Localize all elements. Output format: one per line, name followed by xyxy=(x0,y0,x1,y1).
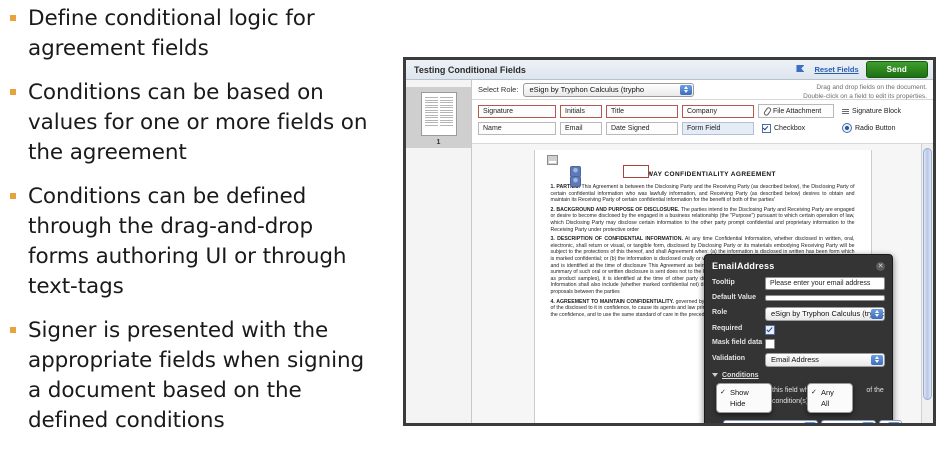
palette-field-email[interactable]: Email xyxy=(560,122,602,135)
initials-field-marker[interactable] xyxy=(570,176,581,187)
page-thumbnail-item[interactable]: 1 xyxy=(406,87,471,148)
app-screenshot-frame: Testing Conditional Fields Reset Fields … xyxy=(403,57,936,426)
page-thumbnail-image xyxy=(421,92,457,136)
field-properties-dialog: EmailAddress ✕ Tooltip Please enter your… xyxy=(704,254,893,426)
signature-block-icon xyxy=(842,107,849,115)
document-scrollbar[interactable] xyxy=(921,144,933,426)
mask-field-data-row: Mask field data xyxy=(712,339,885,349)
slide-bullet-list: Define conditional logic for agreement f… xyxy=(0,0,400,473)
page-thumbnail-number: 1 xyxy=(406,139,471,146)
radio-button-icon xyxy=(842,123,852,133)
palette-field-file-attachment[interactable]: File Attachment xyxy=(758,104,834,118)
chevron-updown-icon xyxy=(680,85,692,95)
conditions-disclosure[interactable]: Conditions xyxy=(712,372,885,379)
palette-field-radio-button[interactable]: Radio Button xyxy=(838,121,914,135)
validation-row: Validation Email Address xyxy=(712,353,885,367)
bullet-marker-icon xyxy=(10,327,16,333)
condition-operator-value: is xyxy=(827,422,832,426)
dialog-role-select[interactable]: eSign by Tryphon Calculus (trypho xyxy=(765,307,885,321)
app-title: Testing Conditional Fields xyxy=(414,65,526,75)
palette-file-attachment-label: File Attachment xyxy=(773,108,821,115)
dialog-role-label: Role xyxy=(712,309,765,318)
role-select-value: eSign by Tryphon Calculus (trypho xyxy=(529,85,644,94)
default-value-row: Default Value xyxy=(712,294,885,303)
condition-operator-select[interactable]: is xyxy=(821,420,876,427)
palette-field-checkbox[interactable]: Checkbox xyxy=(758,122,834,135)
required-label: Required xyxy=(712,325,765,334)
condition-field-value: ReceiveCommunic xyxy=(729,422,792,426)
bullet-text: Define conditional logic for agreement f… xyxy=(28,4,373,64)
palette-field-company[interactable]: Company xyxy=(682,105,754,118)
titlebar-actions: Reset Fields Send xyxy=(796,61,928,78)
document-heading: ONE-WAY CONFIDENTIALITY AGREEMENT xyxy=(551,171,855,178)
palette-radio-button-label: Radio Button xyxy=(855,125,895,132)
palette-field-form-field[interactable]: Form Field xyxy=(682,122,754,135)
bullet-marker-icon xyxy=(10,193,16,199)
reset-fields-link[interactable]: Reset Fields xyxy=(814,65,858,74)
bullet-text: Signer is presented with the appropriate… xyxy=(28,316,373,436)
bullet-item: Conditions can be based on values for on… xyxy=(0,78,400,168)
conditions-label: Conditions xyxy=(722,372,759,379)
app-titlebar: Testing Conditional Fields Reset Fields … xyxy=(406,60,933,80)
remove-condition-icon[interactable]: ✕ xyxy=(712,423,720,427)
chevron-updown-icon xyxy=(862,422,874,427)
dialog-role-value: eSign by Tryphon Calculus (trypho xyxy=(771,309,885,318)
scrollbar-thumb[interactable] xyxy=(923,148,932,400)
palette-checkbox-label: Checkbox xyxy=(774,125,805,132)
validation-label: Validation xyxy=(712,355,765,364)
bullet-text: Conditions can be defined through the dr… xyxy=(28,182,373,302)
email-field-marker[interactable] xyxy=(623,165,649,178)
document-canvas[interactable]: ONE-WAY CONFIDENTIALITY AGREEMENT 1. PAR… xyxy=(472,144,933,426)
conditions-block: this field when of the condition(s) are … xyxy=(712,383,885,417)
app-body: 1 Select Role: eSign by Tryphon Calculus… xyxy=(406,80,933,426)
bullet-marker-icon xyxy=(10,15,16,21)
mask-field-data-label: Mask field data xyxy=(712,339,765,348)
work-pane: Select Role: eSign by Tryphon Calculus (… xyxy=(472,80,933,426)
close-icon[interactable]: ✕ xyxy=(876,262,885,271)
palette-row-1: Signature Initials Title Company File At… xyxy=(478,104,927,118)
role-select[interactable]: eSign by Tryphon Calculus (trypho xyxy=(523,83,694,97)
validation-value: Email Address xyxy=(771,355,819,364)
bullet-text: Conditions can be based on values for on… xyxy=(28,78,373,168)
condition-field-select[interactable]: ReceiveCommunic xyxy=(723,420,818,427)
checked-checkbox-icon xyxy=(762,124,771,133)
palette-field-signature[interactable]: Signature xyxy=(478,105,556,118)
condition-value-select[interactable]: Checked xyxy=(879,420,902,427)
tooltip-input[interactable]: Please enter your email address xyxy=(765,277,885,290)
required-row: Required xyxy=(712,325,885,335)
paperclip-icon xyxy=(763,107,770,115)
palette-field-initials[interactable]: Initials xyxy=(560,105,602,118)
page-thumbnail-rail: 1 xyxy=(406,80,472,426)
send-button[interactable]: Send xyxy=(866,61,928,78)
palette-row-2: Name Email Date Signed Form Field Checkb… xyxy=(478,121,927,135)
any-all-open-menu[interactable]: Any All xyxy=(807,383,853,413)
bullet-item: Define conditional logic for agreement f… xyxy=(0,4,400,64)
menu-item-show[interactable]: Show xyxy=(717,387,771,398)
palette-field-signature-block[interactable]: Signature Block xyxy=(838,105,914,117)
bullet-item: Conditions can be defined through the dr… xyxy=(0,182,400,302)
chevron-updown-icon xyxy=(871,309,883,319)
required-checkbox[interactable] xyxy=(765,325,775,335)
default-value-input[interactable] xyxy=(765,295,885,301)
document-paragraph: 1. PARTIES. This Agreement is between th… xyxy=(551,184,855,204)
drag-hint-text: Drag and drop fields on the document. Do… xyxy=(803,84,927,101)
drag-hint-line-2: Double-click on a field to edit its prop… xyxy=(803,93,927,102)
field-palette: Drag and drop fields on the document. Do… xyxy=(472,100,933,144)
palette-field-name[interactable]: Name xyxy=(478,122,556,135)
tooltip-label: Tooltip xyxy=(712,279,765,288)
role-row: Role eSign by Tryphon Calculus (trypho xyxy=(712,307,885,321)
menu-item-any[interactable]: Any xyxy=(808,387,852,398)
role-label: Select Role: xyxy=(478,85,518,94)
bullet-marker-icon xyxy=(10,89,16,95)
mask-field-data-checkbox[interactable] xyxy=(765,339,775,349)
chevron-updown-icon xyxy=(871,355,883,365)
palette-signature-block-label: Signature Block xyxy=(852,108,901,115)
flag-icon xyxy=(796,65,807,74)
menu-item-all[interactable]: All xyxy=(808,398,852,409)
dialog-titlebar: EmailAddress ✕ xyxy=(712,261,885,271)
condition-row: ✕ ReceiveCommunic is Checked xyxy=(712,420,885,427)
signature-field-marker[interactable] xyxy=(547,155,558,165)
dialog-title: EmailAddress xyxy=(712,261,774,271)
drag-hint-line-1: Drag and drop fields on the document. xyxy=(803,84,927,93)
document-paragraph: 2. BACKGROUND AND PURPOSE OF DISCLOSURE.… xyxy=(551,207,855,233)
default-value-label: Default Value xyxy=(712,294,765,303)
bullet-item: Signer is presented with the appropriate… xyxy=(0,316,400,436)
chevron-updown-icon xyxy=(888,422,900,427)
tooltip-row: Tooltip Please enter your email address xyxy=(712,277,885,290)
validation-select[interactable]: Email Address xyxy=(765,353,885,367)
sentence-part-2: of the xyxy=(866,387,884,394)
chevron-updown-icon xyxy=(804,422,816,427)
chevron-down-icon xyxy=(712,373,718,377)
show-hide-open-menu[interactable]: Show Hide xyxy=(716,383,772,413)
palette-field-date-signed[interactable]: Date Signed xyxy=(606,122,678,135)
menu-item-hide[interactable]: Hide xyxy=(717,398,771,409)
palette-field-title[interactable]: Title xyxy=(606,105,678,118)
